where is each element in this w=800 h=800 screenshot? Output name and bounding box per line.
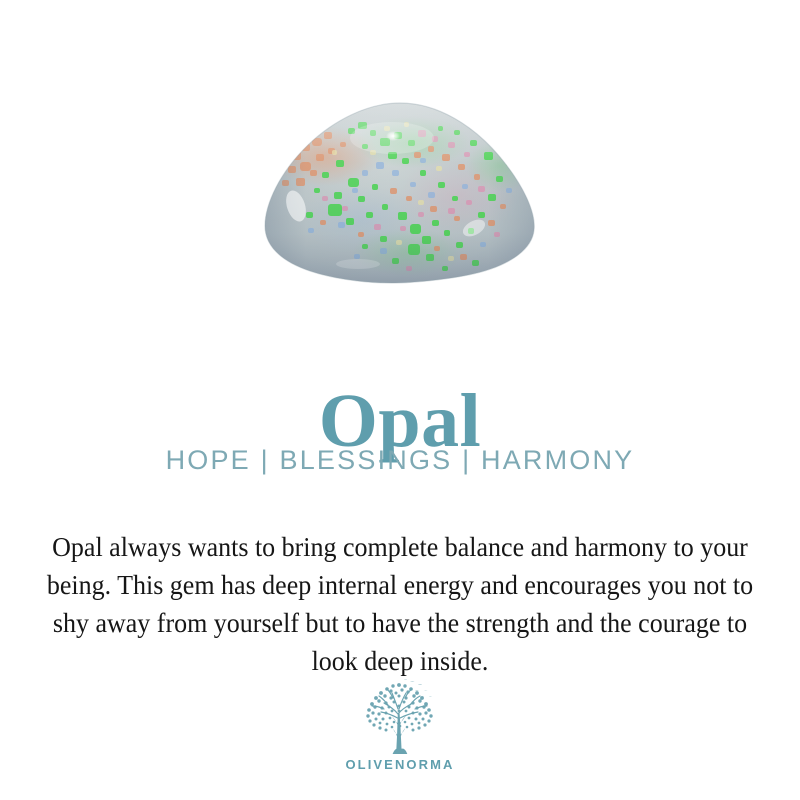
gemstone-keywords-tagline: HOPE | BLESSINGS | HARMONY <box>0 443 800 477</box>
brand-logo: OLIVENORMA <box>0 676 800 786</box>
olive-tree-icon <box>358 676 442 756</box>
brand-name: OLIVENORMA <box>0 757 800 772</box>
opal-cabochon-gemstone <box>262 100 538 285</box>
gemstone-info-card: Opal HOPE | BLESSINGS | HARMONY Opal alw… <box>0 0 800 800</box>
gemstone-description: Opal always wants to bring complete bala… <box>43 528 757 680</box>
gemstone-image-area <box>0 95 800 295</box>
